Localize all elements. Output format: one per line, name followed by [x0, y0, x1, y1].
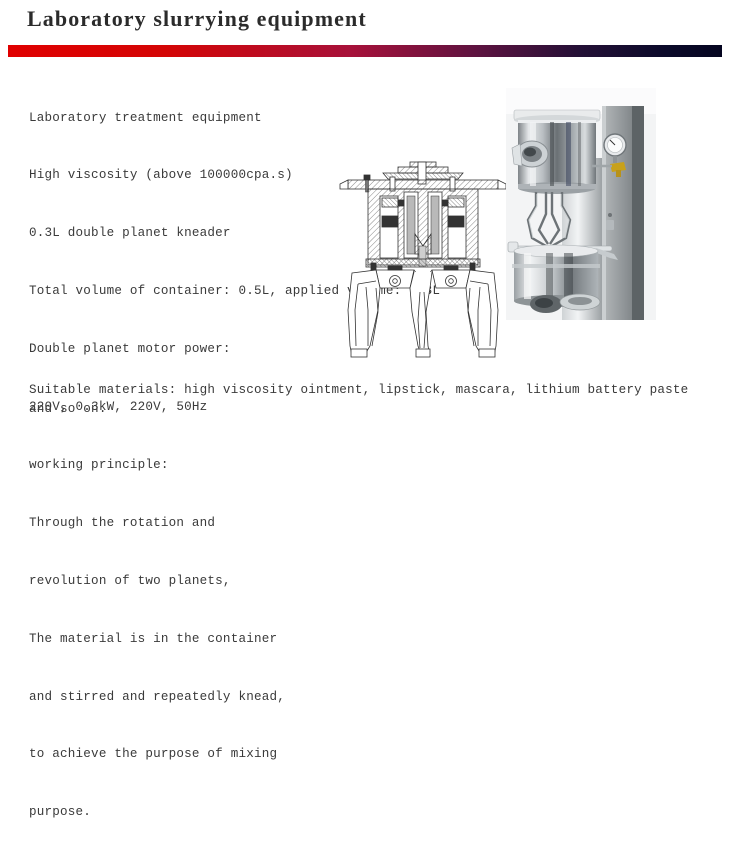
spec-line: Laboratory treatment equipment — [29, 109, 359, 128]
suitable-materials-note: Suitable materials: high viscosity ointm… — [29, 381, 701, 420]
spec-line: Total volume of container: 0.5L, applied… — [29, 282, 359, 301]
page-title: Laboratory slurrying equipment — [27, 6, 367, 32]
gradient-rule — [8, 45, 722, 57]
slide-root: Laboratory slurrying equipment Laborator… — [0, 0, 730, 450]
spec-line: purpose. — [29, 803, 359, 822]
specification-text-block: Laboratory treatment equipment High visc… — [29, 70, 359, 861]
spec-line: High viscosity (above 100000cpa.s) — [29, 166, 359, 185]
spec-line: Through the rotation and — [29, 514, 359, 533]
spec-line: revolution of two planets, — [29, 572, 359, 591]
footer-line: Suitable materials: high viscosity ointm… — [29, 381, 701, 400]
spec-line: The material is in the container — [29, 630, 359, 649]
double-planetary-blade-assembly-drawing — [338, 160, 508, 365]
laboratory-planetary-mixer-photo — [506, 88, 656, 320]
spec-line: to achieve the purpose of mixing — [29, 745, 359, 764]
spec-line: working principle: — [29, 456, 359, 475]
footer-line: and so on. — [29, 400, 701, 419]
spec-line: and stirred and repeatedly knead, — [29, 688, 359, 707]
spec-line: Double planet motor power: — [29, 340, 359, 359]
spec-line: 0.3L double planet kneader — [29, 224, 359, 243]
